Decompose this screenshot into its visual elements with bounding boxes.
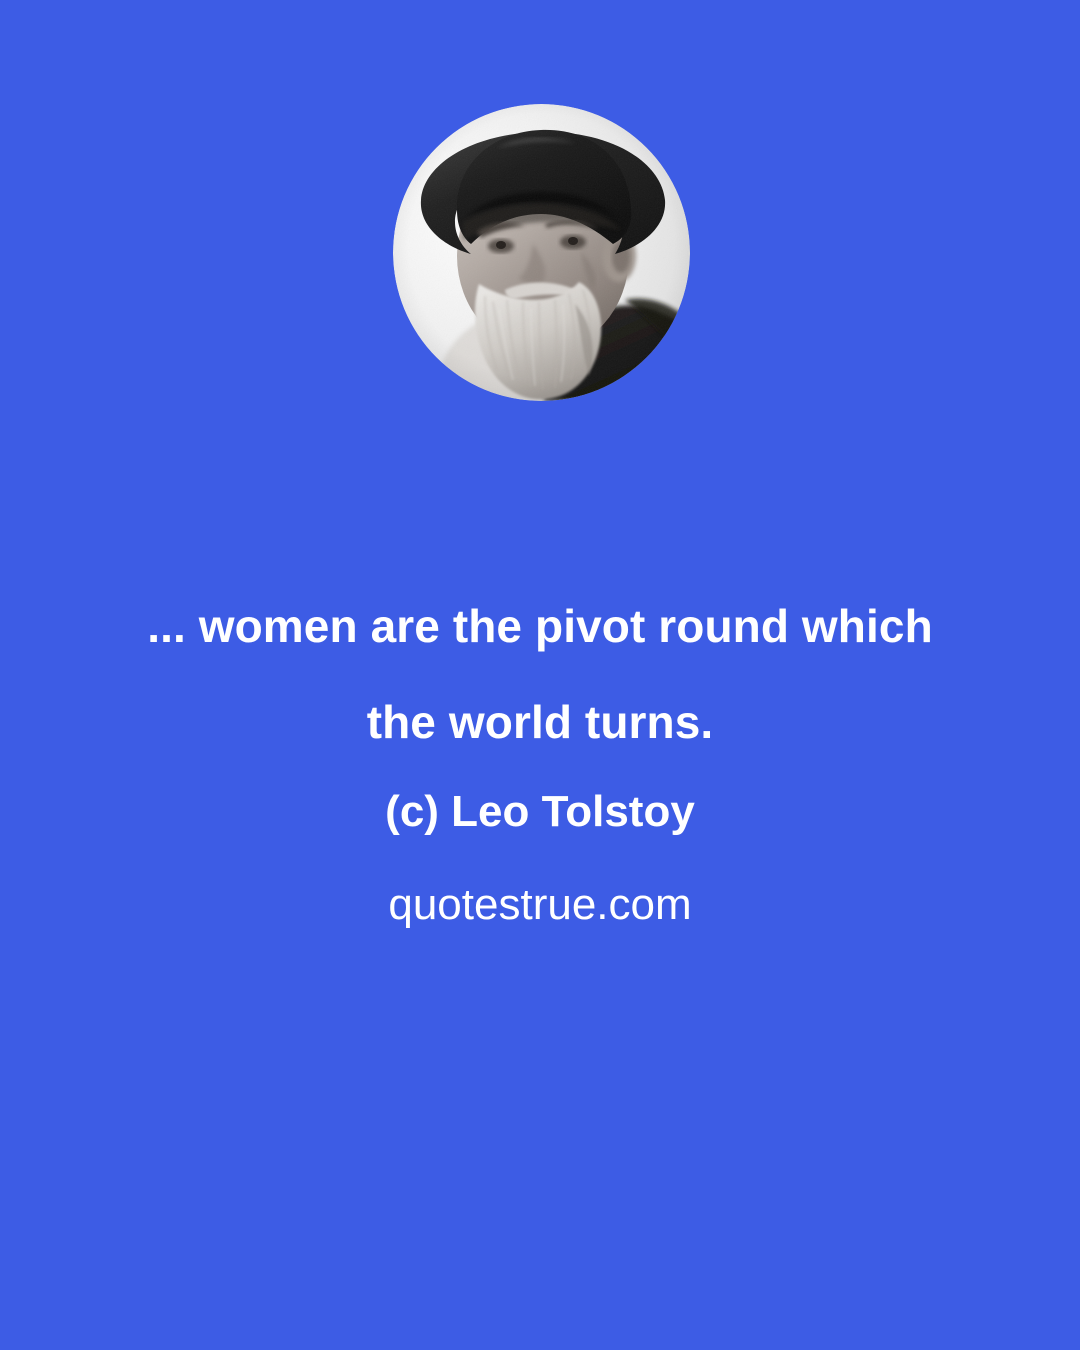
quote-text: ... women are the pivot round which the … — [0, 578, 1080, 770]
author-portrait — [393, 104, 690, 401]
quote-line-2: the world turns. — [0, 674, 1080, 770]
quote-card: ... women are the pivot round which the … — [0, 0, 1080, 1350]
author-attribution: (c) Leo Tolstoy — [0, 785, 1080, 839]
quote-line-1: ... women are the pivot round which — [0, 578, 1080, 674]
site-credit: quotestrue.com — [0, 878, 1080, 932]
author-portrait-photo — [393, 104, 690, 401]
